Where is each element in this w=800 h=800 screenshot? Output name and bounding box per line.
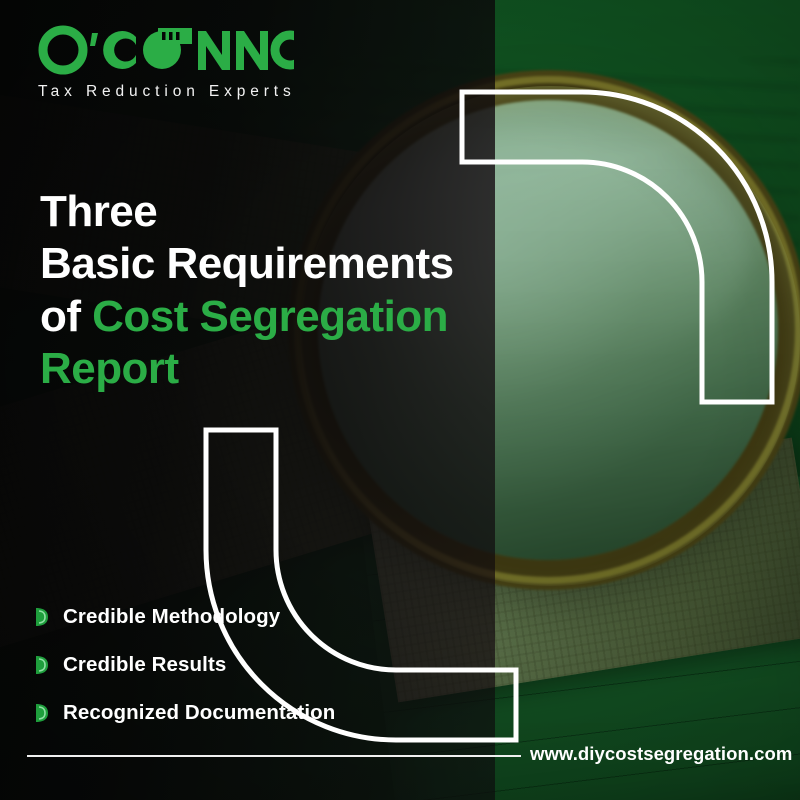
leaf-bullet-icon bbox=[33, 653, 49, 677]
headline-line-1: Three bbox=[40, 187, 157, 236]
headline-line-3-accent: Cost Segregation bbox=[92, 292, 448, 341]
list-item: Credible Results bbox=[33, 653, 335, 677]
brand-tagline: Tax Reduction Experts bbox=[38, 83, 296, 101]
brand-logo[interactable]: Tax Reduction Experts bbox=[38, 24, 296, 101]
list-item-label: Credible Results bbox=[63, 653, 226, 677]
requirements-list: Credible Methodology Credible Results Re… bbox=[33, 605, 335, 725]
logo-wordmark-icon bbox=[38, 24, 296, 76]
list-item: Credible Methodology bbox=[33, 605, 335, 629]
leaf-bullet-icon bbox=[33, 701, 49, 725]
list-item: Recognized Documentation bbox=[33, 701, 335, 725]
list-item-label: Recognized Documentation bbox=[63, 701, 335, 725]
content-layer: Tax Reduction Experts Three Basic Requir… bbox=[0, 0, 800, 800]
footer-divider bbox=[27, 755, 521, 757]
headline-line-4-accent: Report bbox=[40, 344, 179, 393]
headline-line-2: Basic Requirements bbox=[40, 239, 454, 288]
page-title: Three Basic Requirements of Cost Segrega… bbox=[40, 186, 480, 395]
list-item-label: Credible Methodology bbox=[63, 605, 280, 629]
leaf-bullet-icon bbox=[33, 605, 49, 629]
headline-line-3-prefix: of bbox=[40, 292, 92, 341]
website-url[interactable]: www.diycostsegregation.com bbox=[530, 743, 792, 765]
poster-canvas: 14 16 16 17 11 bbox=[0, 0, 800, 800]
